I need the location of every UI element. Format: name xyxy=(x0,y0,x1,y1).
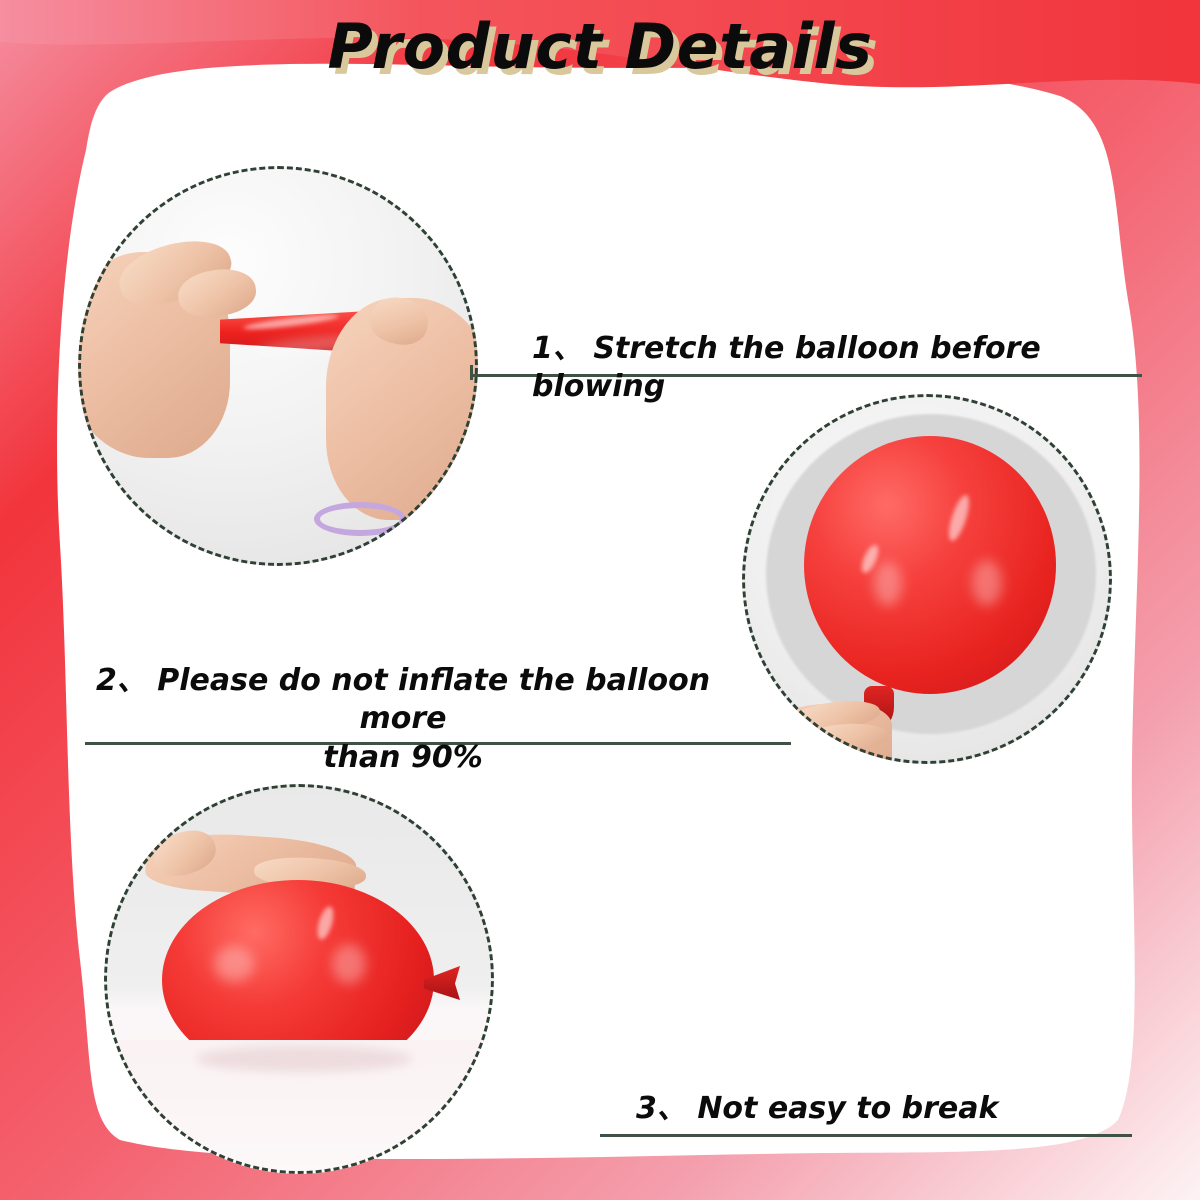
step-1-rule-cap xyxy=(470,365,473,380)
step-3-caption: 3、 Not easy to break xyxy=(636,1090,1136,1128)
page-title: Product Details xyxy=(327,10,872,83)
step-3-rule xyxy=(600,1134,1132,1137)
page-title-container: Product Details xyxy=(0,10,1200,83)
photo-3-dashed-ring xyxy=(104,784,494,1174)
step-photo-inflated xyxy=(742,394,1112,764)
step-photo-stretch xyxy=(78,166,478,566)
step-1-caption: 1、 Stretch the balloon before blowing xyxy=(532,330,1152,407)
step-2-caption: 2、 Please do not inflate the balloon mor… xyxy=(78,662,728,777)
photo-2-dashed-ring xyxy=(742,394,1112,764)
product-details-infographic: Product Details xyxy=(0,0,1200,1200)
step-photo-squash xyxy=(104,784,494,1174)
photo-1-dashed-ring xyxy=(78,166,478,566)
